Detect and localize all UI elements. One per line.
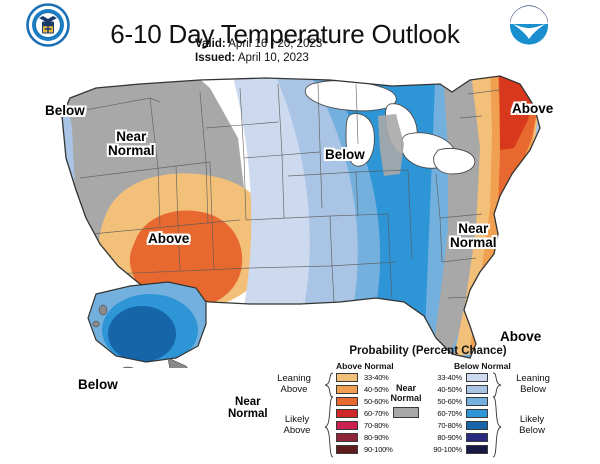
legend-swatch-near-normal	[393, 407, 419, 418]
legend-group-likely-below: Likely Below	[506, 415, 558, 437]
legend-pct-above-50-60: 50-60%	[364, 397, 389, 406]
legend-swatch-below-33-40	[466, 373, 488, 382]
brace-likely-above	[324, 396, 334, 458]
valid-label: Valid:	[195, 38, 226, 50]
legend-pct-below-70-80: 70-80%	[428, 421, 462, 430]
legend-group-line: Above	[266, 385, 322, 396]
legend-above-heading: Above Normal	[336, 361, 394, 371]
legend-swatch-above-60-70	[336, 409, 358, 418]
brace-leaning-below	[492, 372, 502, 398]
legend-group-leaning-above: Leaning Above	[266, 374, 322, 396]
valid-value: April 16 - 20, 2023	[228, 38, 322, 50]
legend-swatch-above-70-80	[336, 421, 358, 430]
legend-group-leaning-below: Leaning Below	[504, 374, 562, 396]
legend-pct-below-90-100: 90-100%	[428, 445, 462, 454]
probability-legend: Probability (Percent Chance) Above Norma…	[258, 345, 600, 464]
legend-pct-below-40-50: 40-50%	[428, 385, 462, 394]
legend-swatch-below-90-100	[466, 445, 488, 454]
legend-pct-below-50-60: 50-60%	[428, 397, 462, 406]
legend-near-normal-heading: Near Normal	[384, 383, 428, 404]
legend-pct-below-80-90: 80-90%	[428, 433, 462, 442]
legend-pct-above-60-70: 60-70%	[364, 409, 389, 418]
legend-swatch-below-70-80	[466, 421, 488, 430]
legend-group-likely-above: Likely Above	[272, 415, 322, 437]
legend-pct-above-80-90: 80-90%	[364, 433, 389, 442]
legend-group-line: Below	[504, 385, 562, 396]
brace-leaning-above	[324, 372, 334, 398]
legend-pct-above-40-50: 40-50%	[364, 385, 389, 394]
legend-pct-above-70-80: 70-80%	[364, 421, 389, 430]
brace-likely-below	[492, 396, 502, 458]
legend-swatch-below-50-60	[466, 397, 488, 406]
legend-pct-above-90-100: 90-100%	[364, 445, 393, 454]
legend-near-normal-line: Normal	[384, 393, 428, 403]
legend-title: Probability (Percent Chance)	[318, 345, 538, 357]
legend-swatch-below-40-50	[466, 385, 488, 394]
noaa-logo: noaa	[507, 3, 551, 47]
legend-swatch-below-60-70	[466, 409, 488, 418]
legend-swatch-above-90-100	[336, 445, 358, 454]
legend-pct-below-60-70: 60-70%	[428, 409, 462, 418]
noaa-logo-text: noaa	[523, 13, 535, 19]
legend-below-heading: Below Normal	[454, 361, 511, 371]
legend-swatch-above-50-60	[336, 397, 358, 406]
legend-swatch-above-80-90	[336, 433, 358, 442]
legend-group-line: Above	[272, 426, 322, 437]
legend-near-normal-line: Near	[384, 383, 428, 393]
legend-swatch-below-80-90	[466, 433, 488, 442]
legend-group-line: Below	[506, 426, 558, 437]
legend-swatch-above-33-40	[336, 373, 358, 382]
legend-pct-above-33-40: 33-40%	[364, 373, 389, 382]
map-label-alaska: Below	[78, 378, 118, 392]
noaa-nws-seal-logo	[26, 3, 70, 47]
legend-pct-below-33-40: 33-40%	[428, 373, 462, 382]
valid-date-line: Valid: April 16 - 20, 2023	[195, 38, 322, 50]
legend-swatch-above-40-50	[336, 385, 358, 394]
temperature-outlook-map[interactable]: Below Near Normal Above Below Above Near…	[0, 58, 600, 368]
